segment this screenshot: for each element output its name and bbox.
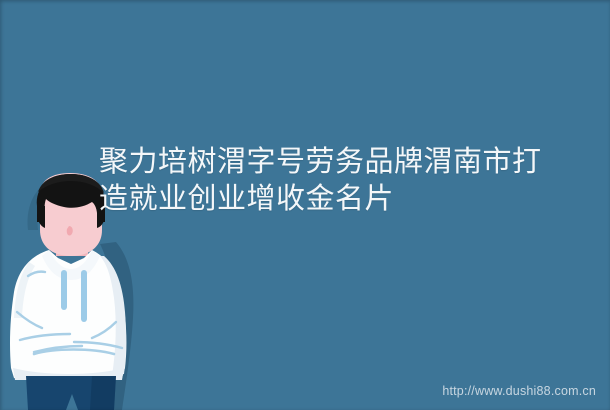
- headline-line-2: 造就业创业增收金名片: [99, 181, 599, 218]
- hair-side-left: [37, 206, 45, 228]
- page-title: 聚力培树渭字号劳务品牌渭南市打 造就业创业增收金名片: [99, 144, 599, 218]
- pants-shade: [90, 376, 116, 410]
- article-thumbnail-card: 聚力培树渭字号劳务品牌渭南市打 造就业创业增收金名片 http://www.du…: [0, 0, 610, 410]
- drawstring-left: [61, 270, 67, 310]
- drawstring-right: [81, 270, 87, 322]
- watermark-url: http://www.dushi88.com.cn: [442, 384, 596, 398]
- headline-line-1: 聚力培树渭字号劳务品牌渭南市打: [99, 144, 599, 181]
